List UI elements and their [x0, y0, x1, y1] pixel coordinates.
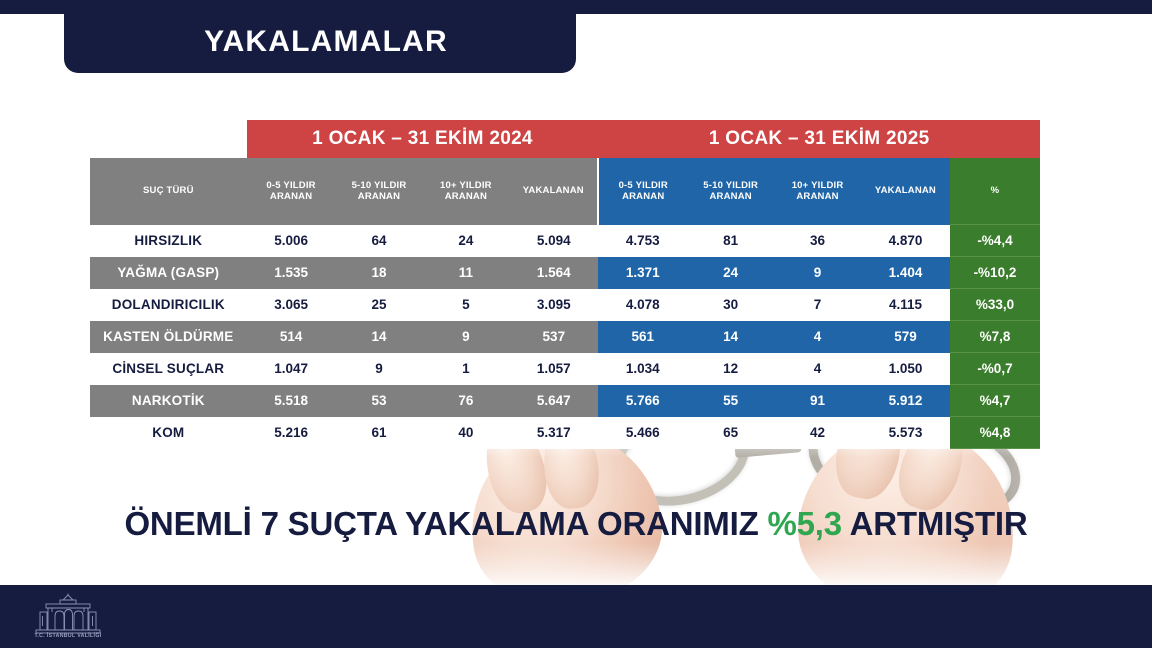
cell-2024-captured: 537: [509, 321, 598, 353]
cell-2025-wanted-10-plus: 4: [774, 353, 861, 385]
cell-2024-captured: 1.564: [509, 257, 598, 289]
cell-2024-wanted-5-10: 18: [336, 257, 423, 289]
cell-percent-change: %7,8: [950, 321, 1040, 353]
column-header-2025-wanted-0-5: 0-5 YILDIR ARANAN: [598, 158, 687, 225]
table-row: NARKOTİK5.51853765.6475.76655915.912%4,7: [90, 385, 1040, 417]
column-header-2025-wanted-10-plus: 10+ YILDIR ARANAN: [774, 158, 861, 225]
column-header-percent-change: %: [950, 158, 1040, 225]
row-crime-type: NARKOTİK: [90, 385, 247, 417]
cell-2024-wanted-10-plus: 1: [422, 353, 509, 385]
row-crime-type: KASTEN ÖLDÜRME: [90, 321, 247, 353]
cell-2025-wanted-10-plus: 7: [774, 289, 861, 321]
cell-2024-captured: 3.095: [509, 289, 598, 321]
footer-logo-caption: T.C. İSTANBUL VALİLİĞİ: [22, 633, 114, 639]
cell-2025-wanted-0-5: 5.466: [598, 417, 687, 449]
cell-2025-wanted-0-5: 4.753: [598, 225, 687, 257]
cell-2024-wanted-0-5: 1.047: [247, 353, 336, 385]
summary-headline: ÖNEMLİ 7 SUÇTA YAKALAMA ORANIMIZ %5,3 AR…: [0, 505, 1152, 543]
column-header-2024-captured: YAKALANAN: [509, 158, 598, 225]
page-title: YAKALAMALAR: [64, 0, 576, 73]
cell-2025-wanted-10-plus: 4: [774, 321, 861, 353]
headline-accent-value: %5,3: [768, 505, 842, 542]
cell-2025-captured: 4.870: [861, 225, 950, 257]
cell-2024-wanted-0-5: 5.518: [247, 385, 336, 417]
headline-text-before: ÖNEMLİ 7 SUÇTA YAKALAMA ORANIMIZ: [124, 505, 767, 542]
cell-2024-wanted-0-5: 5.216: [247, 417, 336, 449]
cell-2024-wanted-10-plus: 9: [422, 321, 509, 353]
column-header-2025-captured: YAKALANAN: [861, 158, 950, 225]
cell-2024-wanted-5-10: 61: [336, 417, 423, 449]
column-header-2024-wanted-10-plus: 10+ YILDIR ARANAN: [422, 158, 509, 225]
headline-text-after: ARTMIŞTIR: [842, 505, 1028, 542]
column-header-2024-wanted-5-10: 5-10 YILDIR ARANAN: [336, 158, 423, 225]
cell-2025-captured: 4.115: [861, 289, 950, 321]
table-row: HIRSIZLIK5.00664245.0944.75381364.870-%4…: [90, 225, 1040, 257]
cell-2025-wanted-5-10: 65: [687, 417, 774, 449]
table-row: CİNSEL SUÇLAR1.047911.0571.0341241.050-%…: [90, 353, 1040, 385]
cell-2025-wanted-10-plus: 42: [774, 417, 861, 449]
cell-2024-wanted-5-10: 9: [336, 353, 423, 385]
cell-2025-wanted-5-10: 14: [687, 321, 774, 353]
cell-2024-wanted-0-5: 3.065: [247, 289, 336, 321]
cell-2024-wanted-5-10: 64: [336, 225, 423, 257]
cell-2024-wanted-10-plus: 11: [422, 257, 509, 289]
cell-percent-change: -%10,2: [950, 257, 1040, 289]
table-row: YAĞMA (GASP)1.53518111.5641.3712491.404-…: [90, 257, 1040, 289]
cell-2025-wanted-0-5: 5.766: [598, 385, 687, 417]
cell-2025-wanted-5-10: 55: [687, 385, 774, 417]
table-row: KASTEN ÖLDÜRME514149537561144579%7,8: [90, 321, 1040, 353]
cell-2025-wanted-10-plus: 9: [774, 257, 861, 289]
cell-2025-captured: 5.573: [861, 417, 950, 449]
cell-2025-captured: 1.050: [861, 353, 950, 385]
cell-2025-wanted-0-5: 1.034: [598, 353, 687, 385]
cell-2025-wanted-5-10: 81: [687, 225, 774, 257]
cell-percent-change: %4,7: [950, 385, 1040, 417]
page-title-label: YAKALAMALAR: [192, 15, 448, 59]
cell-2024-wanted-0-5: 514: [247, 321, 336, 353]
cell-2025-wanted-5-10: 30: [687, 289, 774, 321]
column-header-2025-wanted-5-10: 5-10 YILDIR ARANAN: [687, 158, 774, 225]
cell-2025-wanted-0-5: 1.371: [598, 257, 687, 289]
column-header-2024-wanted-0-5: 0-5 YILDIR ARANAN: [247, 158, 336, 225]
footer-bar: T.C. İSTANBUL VALİLİĞİ: [0, 585, 1152, 648]
cell-2024-captured: 5.094: [509, 225, 598, 257]
table-column-header-row: SUÇ TÜRÜ 0-5 YILDIR ARANAN 5-10 YILDIR A…: [90, 158, 1040, 225]
table-row: DOLANDIRICILIK3.0652553.0954.0783074.115…: [90, 289, 1040, 321]
cell-percent-change: %4,8: [950, 417, 1040, 449]
row-crime-type: HIRSIZLIK: [90, 225, 247, 257]
cell-2025-wanted-5-10: 12: [687, 353, 774, 385]
cell-percent-change: -%0,7: [950, 353, 1040, 385]
period-header-2025: 1 OCAK – 31 EKİM 2025: [598, 120, 1040, 158]
cell-2025-wanted-10-plus: 91: [774, 385, 861, 417]
cell-percent-change: %33,0: [950, 289, 1040, 321]
row-crime-type: DOLANDIRICILIK: [90, 289, 247, 321]
cell-2024-wanted-10-plus: 24: [422, 225, 509, 257]
table-period-header-row: 1 OCAK – 31 EKİM 2024 1 OCAK – 31 EKİM 2…: [90, 120, 1040, 158]
statistics-table-container: 1 OCAK – 31 EKİM 2024 1 OCAK – 31 EKİM 2…: [90, 120, 1040, 449]
cell-2024-wanted-10-plus: 5: [422, 289, 509, 321]
cell-2025-captured: 1.404: [861, 257, 950, 289]
cell-2024-wanted-0-5: 1.535: [247, 257, 336, 289]
row-crime-type: KOM: [90, 417, 247, 449]
cell-2025-captured: 5.912: [861, 385, 950, 417]
cell-2024-wanted-5-10: 14: [336, 321, 423, 353]
period-header-spacer: [90, 120, 247, 158]
period-header-2024: 1 OCAK – 31 EKİM 2024: [247, 120, 599, 158]
captures-statistics-table: 1 OCAK – 31 EKİM 2024 1 OCAK – 31 EKİM 2…: [90, 120, 1040, 449]
cell-2024-wanted-10-plus: 40: [422, 417, 509, 449]
cell-percent-change: -%4,4: [950, 225, 1040, 257]
cell-2024-wanted-0-5: 5.006: [247, 225, 336, 257]
cell-2024-captured: 5.317: [509, 417, 598, 449]
cell-2024-wanted-5-10: 53: [336, 385, 423, 417]
table-body: HIRSIZLIK5.00664245.0944.75381364.870-%4…: [90, 225, 1040, 449]
row-crime-type: YAĞMA (GASP): [90, 257, 247, 289]
cell-2024-captured: 1.057: [509, 353, 598, 385]
cell-2025-wanted-0-5: 4.078: [598, 289, 687, 321]
row-crime-type: CİNSEL SUÇLAR: [90, 353, 247, 385]
table-row: KOM5.21661405.3175.46665425.573%4,8: [90, 417, 1040, 449]
cell-2024-captured: 5.647: [509, 385, 598, 417]
column-header-crime-type: SUÇ TÜRÜ: [90, 158, 247, 225]
cell-2025-captured: 579: [861, 321, 950, 353]
cell-2025-wanted-10-plus: 36: [774, 225, 861, 257]
cell-2024-wanted-10-plus: 76: [422, 385, 509, 417]
cell-2025-wanted-5-10: 24: [687, 257, 774, 289]
cell-2025-wanted-0-5: 561: [598, 321, 687, 353]
cell-2024-wanted-5-10: 25: [336, 289, 423, 321]
